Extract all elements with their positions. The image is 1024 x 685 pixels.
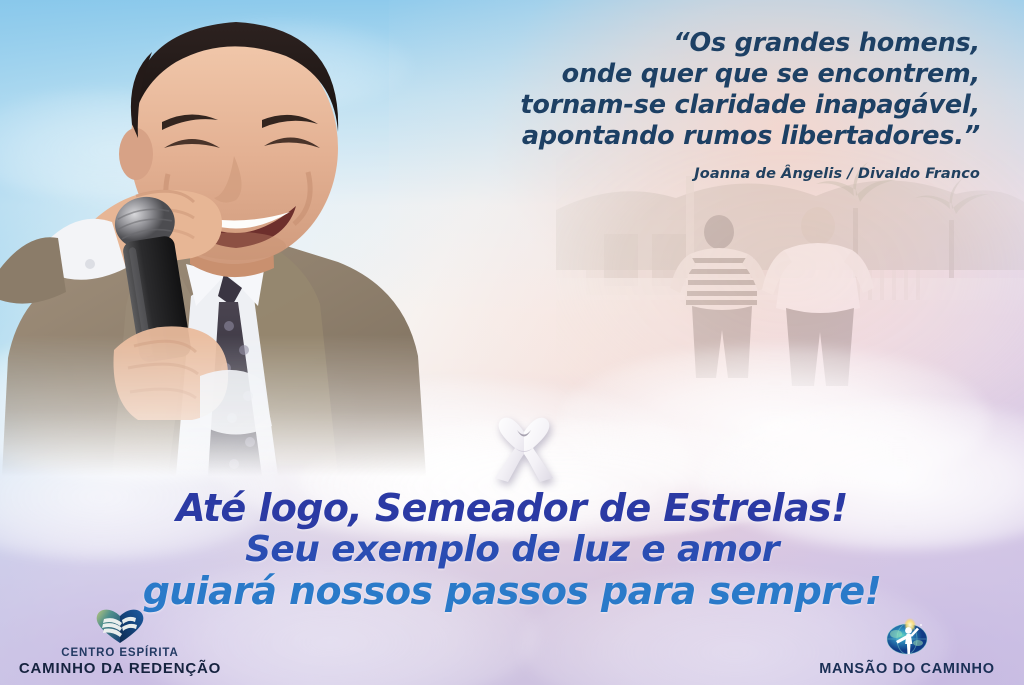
headline-line-1: Até logo, Semeador de Estrelas!: [0, 487, 1024, 529]
logo-centro-espirita-caminho-da-redencao: CENTRO ESPÍRITA CAMINHO DA REDENÇÃO: [14, 607, 226, 677]
quote-author: Joanna de Ângelis / Divaldo Franco: [420, 166, 980, 182]
quote-line-1: “Os grandes homens,: [420, 28, 980, 59]
headline-line-3: guiará nossos passos para sempre!: [0, 570, 1024, 612]
portrait-photo: [0, 6, 456, 476]
globe-figure-icon: [800, 618, 1014, 656]
headline-block: Até logo, Semeador de Estrelas! Seu exem…: [0, 487, 1024, 612]
quote-line-4: apontando rumos libertadores.”: [420, 121, 980, 152]
hands-heart-icon: [14, 607, 226, 645]
quote-line-2: onde quer que se encontrem,: [420, 59, 980, 90]
mourning-ribbon-icon: [487, 408, 561, 486]
logo-left-line-1: CENTRO ESPÍRITA: [14, 647, 226, 659]
memorial-poster: “Os grandes homens, onde quer que se enc…: [0, 0, 1024, 685]
quote-block: “Os grandes homens, onde quer que se enc…: [420, 28, 980, 182]
headline-line-2: Seu exemplo de luz e amor: [0, 529, 1024, 570]
logo-mansao-do-caminho: MANSÃO DO CAMINHO: [800, 618, 1014, 677]
quote-line-3: tornam-se claridade inapagável,: [420, 90, 980, 121]
logo-right-line-2: MANSÃO DO CAMINHO: [800, 661, 1014, 677]
logo-left-line-2: CAMINHO DA REDENÇÃO: [14, 660, 226, 677]
